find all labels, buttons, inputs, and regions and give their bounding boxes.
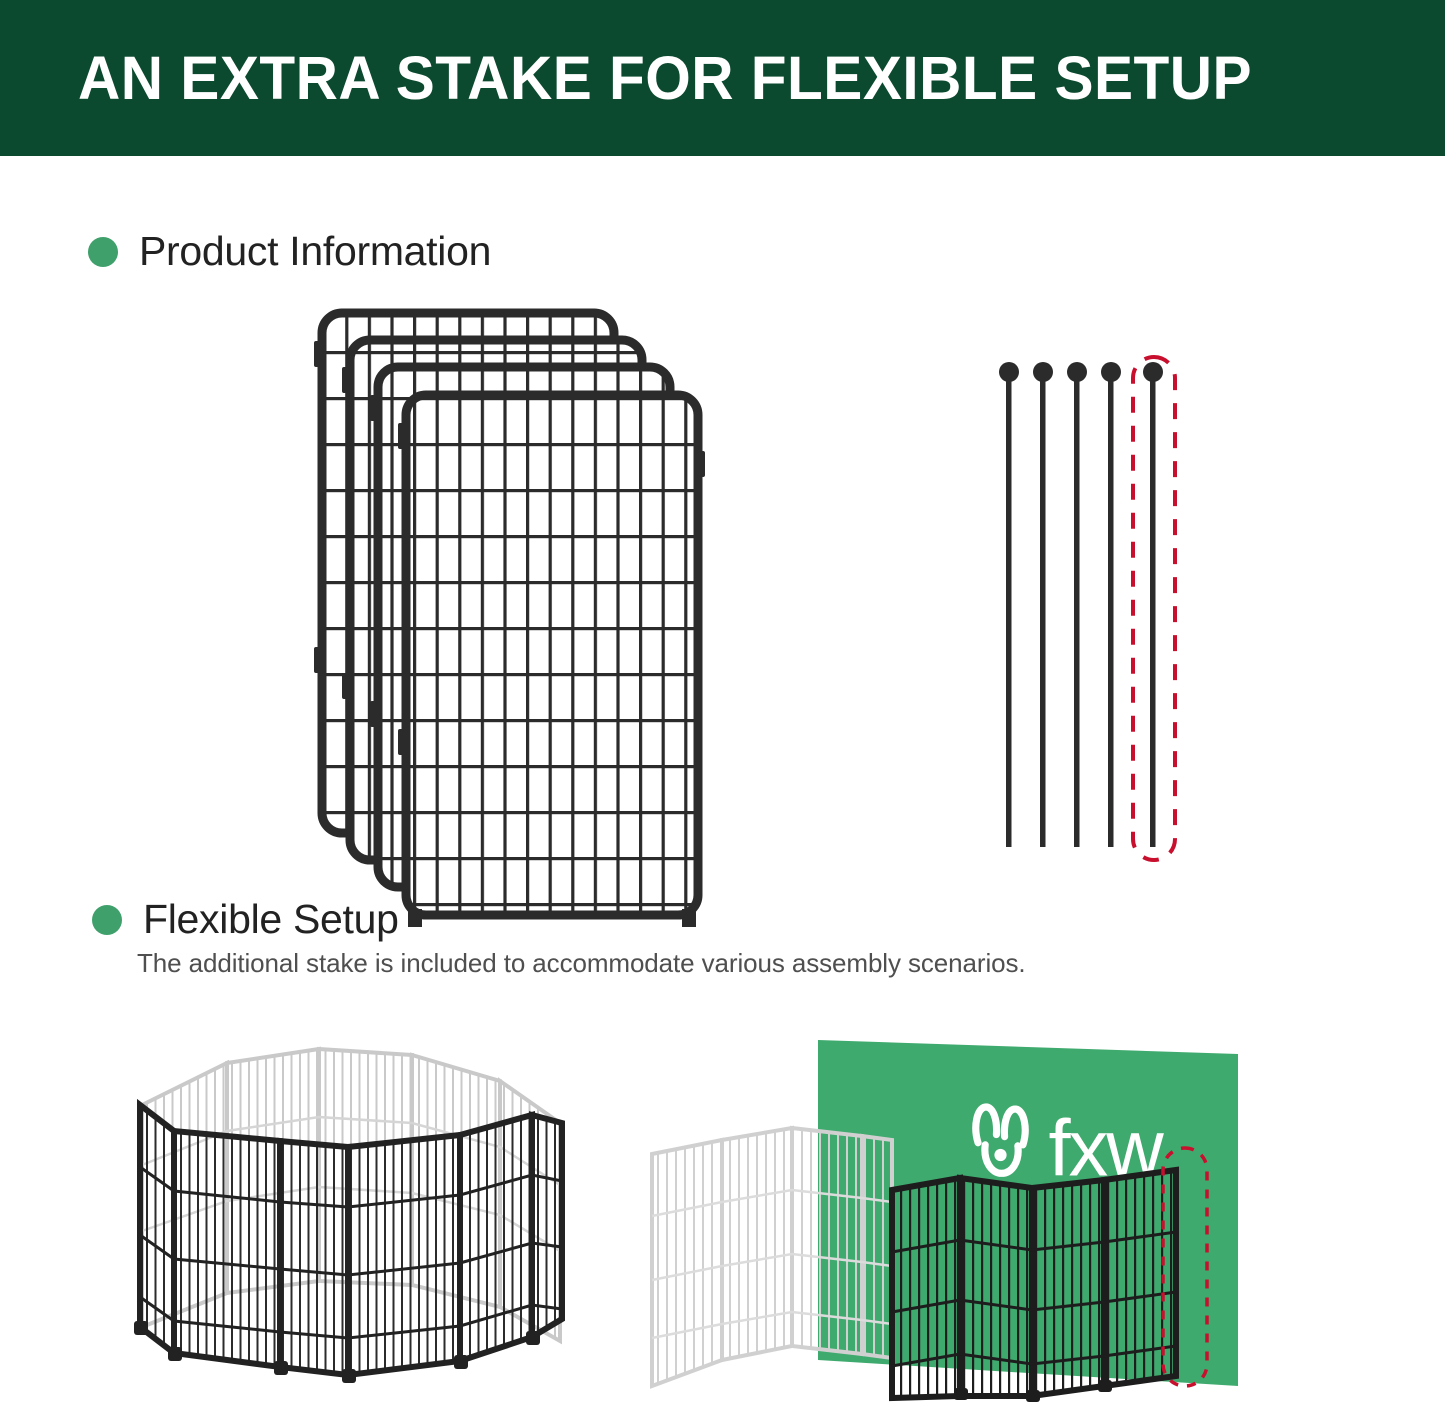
page-title: AN EXTRA STAKE FOR FLEXIBLE SETUP bbox=[78, 48, 1252, 109]
stake-2 bbox=[1033, 362, 1053, 847]
bullet-dot-icon bbox=[92, 905, 122, 935]
stake-4 bbox=[1101, 362, 1121, 847]
section-heading-flexible-setup: Flexible Setup bbox=[92, 896, 399, 943]
octagonal-playpen-figure bbox=[112, 1035, 592, 1380]
stake-5-highlighted bbox=[1143, 362, 1163, 847]
active-panels bbox=[892, 1170, 1176, 1402]
ghost-panels bbox=[652, 1128, 892, 1386]
header-banner: AN EXTRA STAKE FOR FLEXIBLE SETUP bbox=[0, 0, 1445, 156]
wall-mounted-setup-figure: fxw bbox=[630, 1008, 1290, 1398]
section-heading-label: Product Information bbox=[139, 228, 491, 275]
ground-stakes-figure bbox=[985, 355, 1200, 865]
bullet-dot-icon bbox=[88, 237, 118, 267]
section-heading-product-information: Product Information bbox=[88, 228, 491, 275]
stake-3 bbox=[1067, 362, 1087, 847]
stake-1 bbox=[999, 362, 1019, 847]
octagon-front-panels bbox=[134, 1105, 562, 1383]
stacked-wire-panels-figure bbox=[300, 305, 700, 870]
panel-front-1 bbox=[398, 395, 705, 927]
section-subtext: The additional stake is included to acco… bbox=[137, 948, 1026, 979]
section-heading-label: Flexible Setup bbox=[143, 896, 399, 943]
